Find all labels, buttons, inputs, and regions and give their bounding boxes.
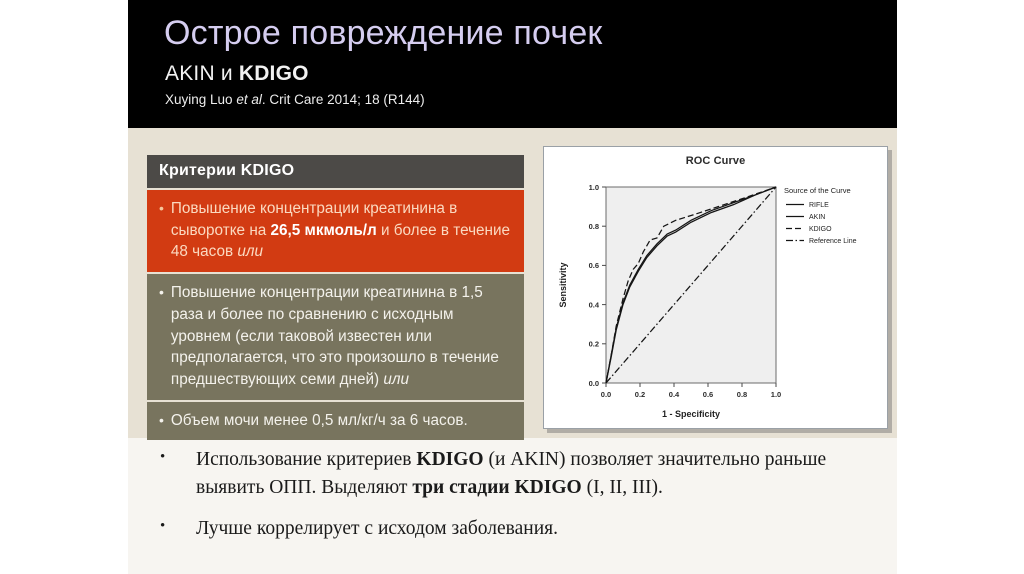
slide-header: Острое повреждение почек AKIN и KDIGO Xu… [128,0,897,128]
bullet-icon: • [159,410,164,432]
kdigo-criteria-table: Критерии KDIGO • Повышение концентрации … [147,155,524,440]
legend-label: Reference Line [809,238,857,245]
x-tick-label: 1.0 [771,390,781,399]
x-tick-label: 0.8 [737,390,747,399]
summary-bullet-2-text: Лучше коррелирует с исходом заболевания. [196,515,880,543]
y-tick-label: 1.0 [589,183,599,192]
x-tick-label: 0.2 [635,390,645,399]
list-item: • Лучше коррелирует с исходом заболевани… [160,515,880,543]
criteria-row-1-value: 26,5 мкмоль/л [271,222,377,239]
roc-curve-chart: ROC Curve 0.00.20.40.60.81.00.00.20.40.6… [543,146,888,429]
bullet-icon: • [159,198,164,263]
criteria-row-2-text: Повышение концентрации креатинина в 1,5 … [171,282,514,391]
summary-bullets: • Использование критериев KDIGO (и AKIN)… [160,446,880,557]
legend-label: KDIGO [809,226,832,233]
criteria-row-2-part1: Повышение концентрации креатинина в 1,5 … [171,284,499,388]
criteria-row-2-or: или [383,371,409,388]
criteria-row-1: • Повышение концентрации креатинина в сы… [147,188,524,272]
x-tick-label: 0.4 [669,390,680,399]
criteria-row-3-text: Объем мочи менее 0,5 мл/кг/ч за 6 часов. [171,410,514,432]
sb1-b2: три стадии KDIGO [412,477,581,498]
citation-etal: et al [236,92,262,107]
x-axis-label: 1 - Specificity [662,409,720,419]
y-axis-label: Sensitivity [558,262,568,307]
criteria-row-2: • Повышение концентрации креатинина в 1,… [147,272,524,400]
legend-label: AKIN [809,214,825,221]
criteria-heading: Критерии KDIGO [147,155,524,188]
bullet-icon: • [160,446,196,501]
summary-bullet-1-text: Использование критериев KDIGO (и AKIN) п… [196,446,880,501]
citation-source: . Crit Care 2014; 18 (R144) [262,92,425,107]
y-tick-label: 0.8 [589,222,599,231]
legend-title: Source of the Curve [784,186,851,195]
criteria-row-1-or: или [237,243,263,260]
sb1-p3: (I, II, III). [582,477,663,498]
criteria-row-1-text: Повышение концентрации креатинина в сыво… [171,198,514,263]
bullet-icon: • [160,515,196,543]
page-title: Острое повреждение почек [164,14,603,53]
roc-curve-svg: 0.00.20.40.60.81.00.00.20.40.60.81.01 - … [544,147,887,428]
x-tick-label: 0.0 [601,390,611,399]
subtitle: AKIN и KDIGO [165,62,309,86]
y-tick-label: 0.2 [589,340,599,349]
legend-label: RIFLE [809,202,829,209]
citation-author: Xuying Luo [165,92,236,107]
y-tick-label: 0.4 [589,300,600,309]
subtitle-bold: KDIGO [239,62,309,85]
bullet-icon: • [159,282,164,391]
y-tick-label: 0.6 [589,261,599,270]
citation: Xuying Luo et al. Crit Care 2014; 18 (R1… [165,92,425,107]
subtitle-plain: AKIN и [165,62,239,85]
sb1-p1: Использование критериев [196,449,416,470]
list-item: • Использование критериев KDIGO (и AKIN)… [160,446,880,501]
y-tick-label: 0.0 [589,379,599,388]
x-tick-label: 0.6 [703,390,713,399]
slide: Острое повреждение почек AKIN и KDIGO Xu… [0,0,1024,574]
criteria-row-3: • Объем мочи менее 0,5 мл/кг/ч за 6 часо… [147,400,524,441]
sb1-b1: KDIGO [416,449,483,470]
